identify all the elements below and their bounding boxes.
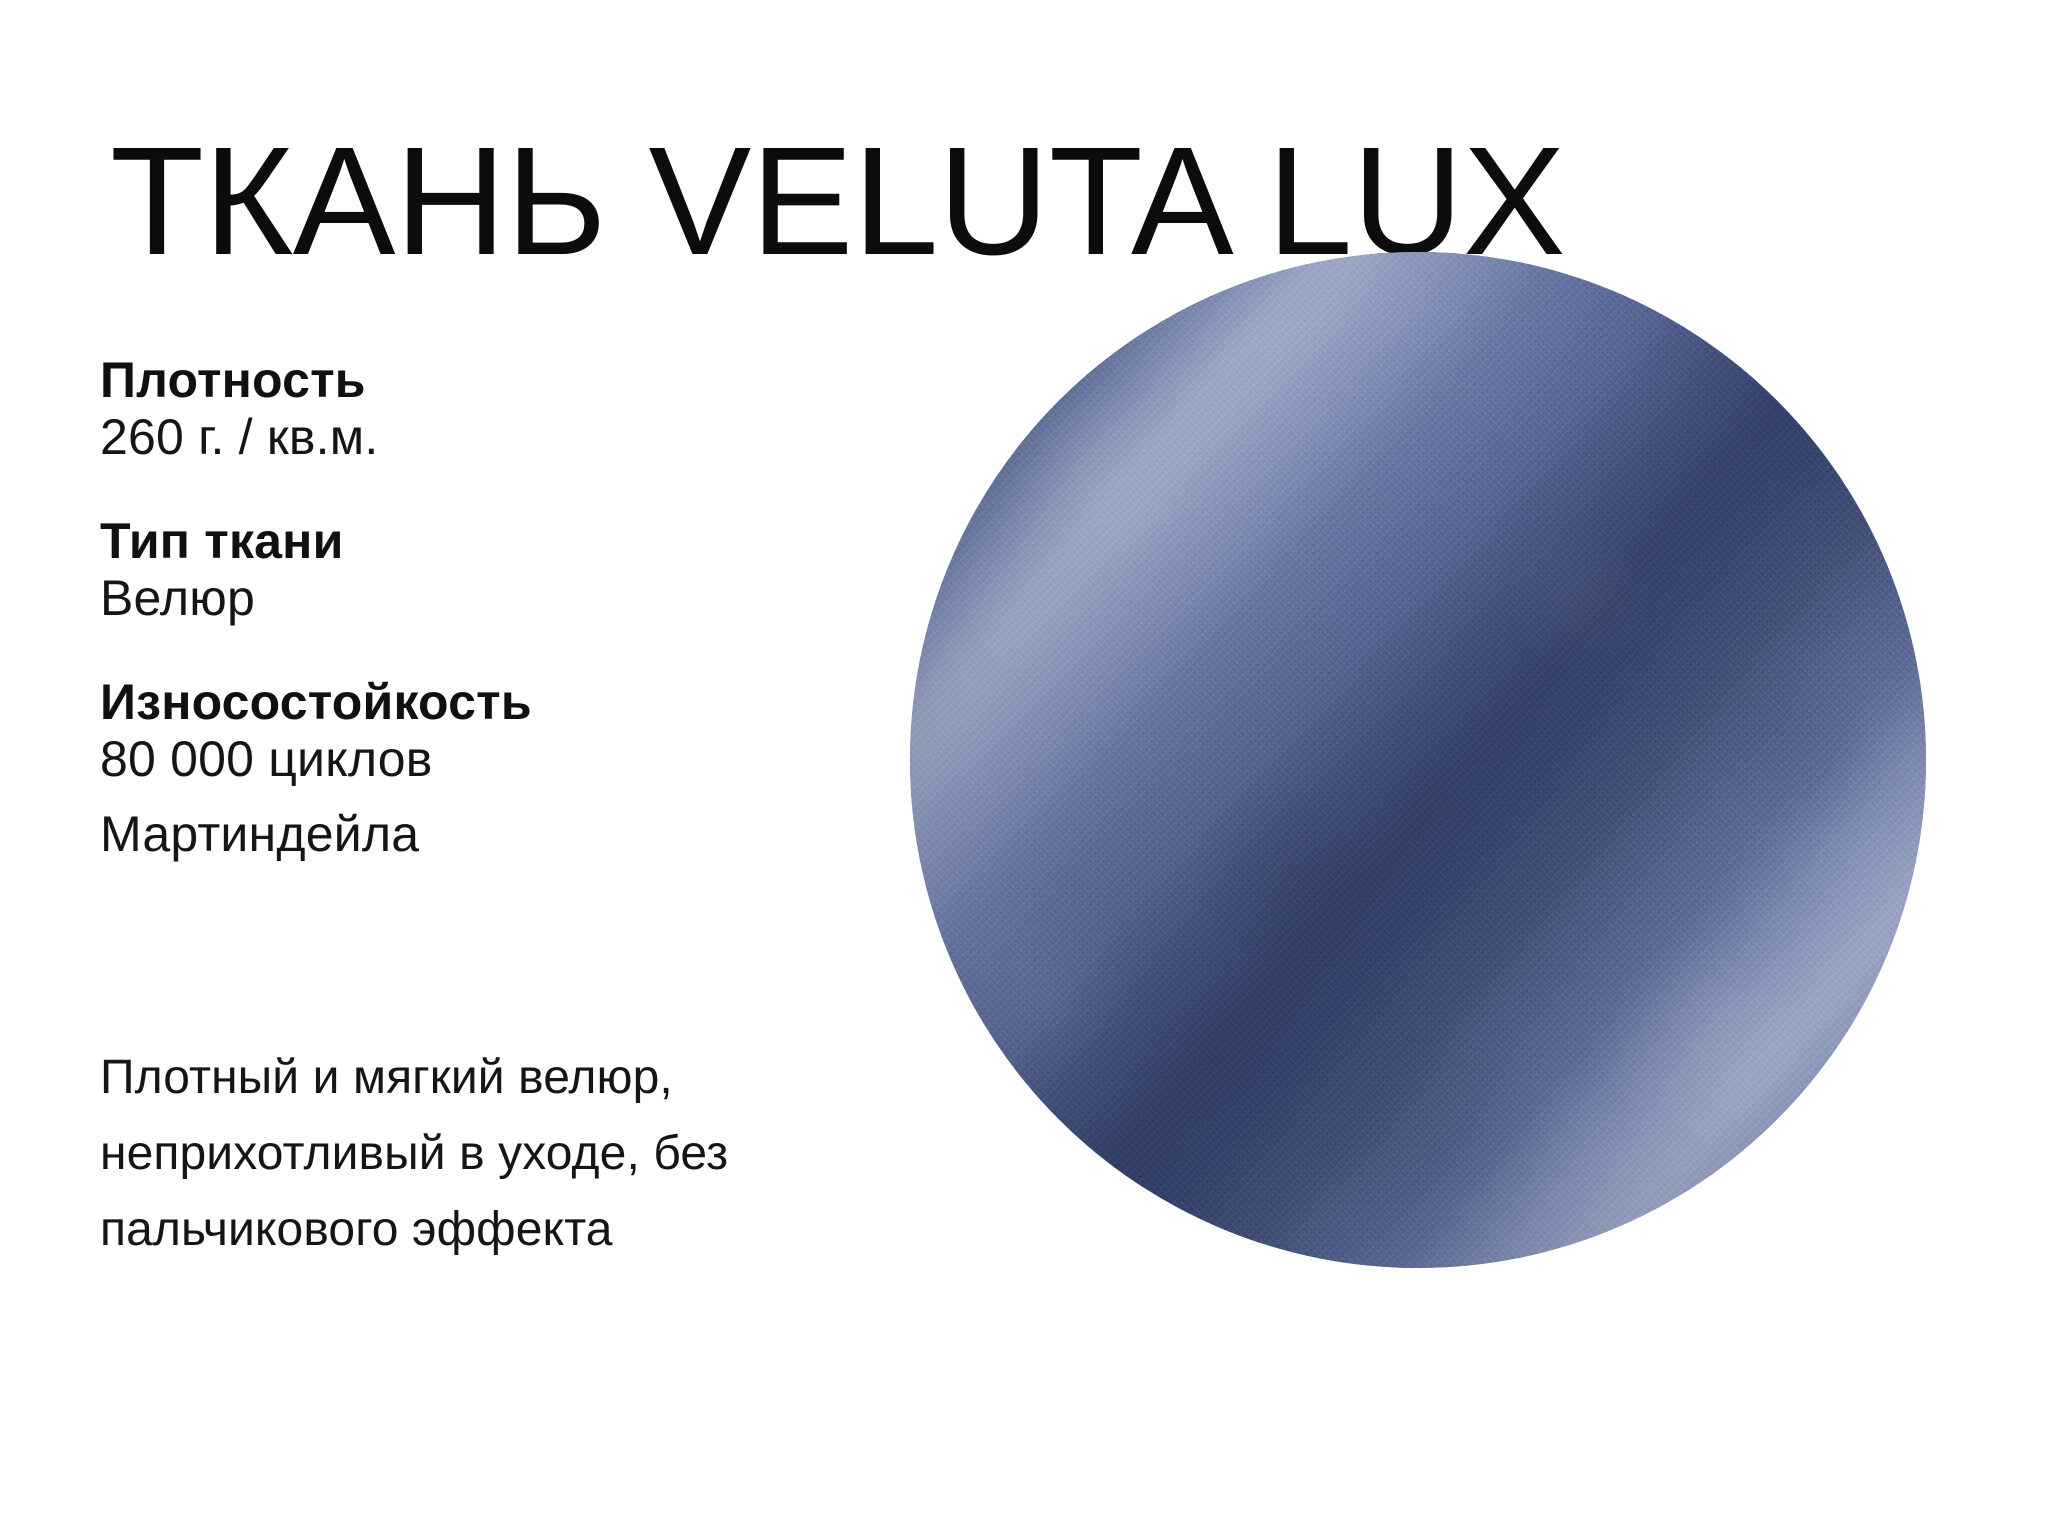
spec-value-fabric-type: Велюр (100, 569, 930, 628)
spec-label-density: Плотность (100, 352, 930, 408)
swatch-vignette (910, 252, 1926, 1268)
fabric-swatch-image (910, 252, 1926, 1268)
fabric-spec-card: ТКАНЬ VELUTA LUX Плотность 260 г. / кв.м… (0, 0, 2048, 1536)
spec-item-abrasion-resistance: Износостойкость 80 000 циклов Мартиндейл… (100, 674, 930, 864)
spec-item-density: Плотность 260 г. / кв.м. (100, 352, 930, 467)
spec-label-abrasion-resistance: Износостойкость (100, 674, 930, 730)
spec-list: Плотность 260 г. / кв.м. Тип ткани Велюр… (100, 352, 930, 864)
spec-value-abrasion-resistance: 80 000 циклов (100, 730, 930, 789)
spec-item-fabric-type: Тип ткани Велюр (100, 513, 930, 628)
spec-value-density: 260 г. / кв.м. (100, 408, 930, 467)
spec-value-abrasion-resistance-unit: Мартиндейла (100, 805, 930, 864)
spec-label-fabric-type: Тип ткани (100, 513, 930, 569)
fabric-description: Плотный и мягкий велюр, неприхотливый в … (100, 1040, 940, 1267)
